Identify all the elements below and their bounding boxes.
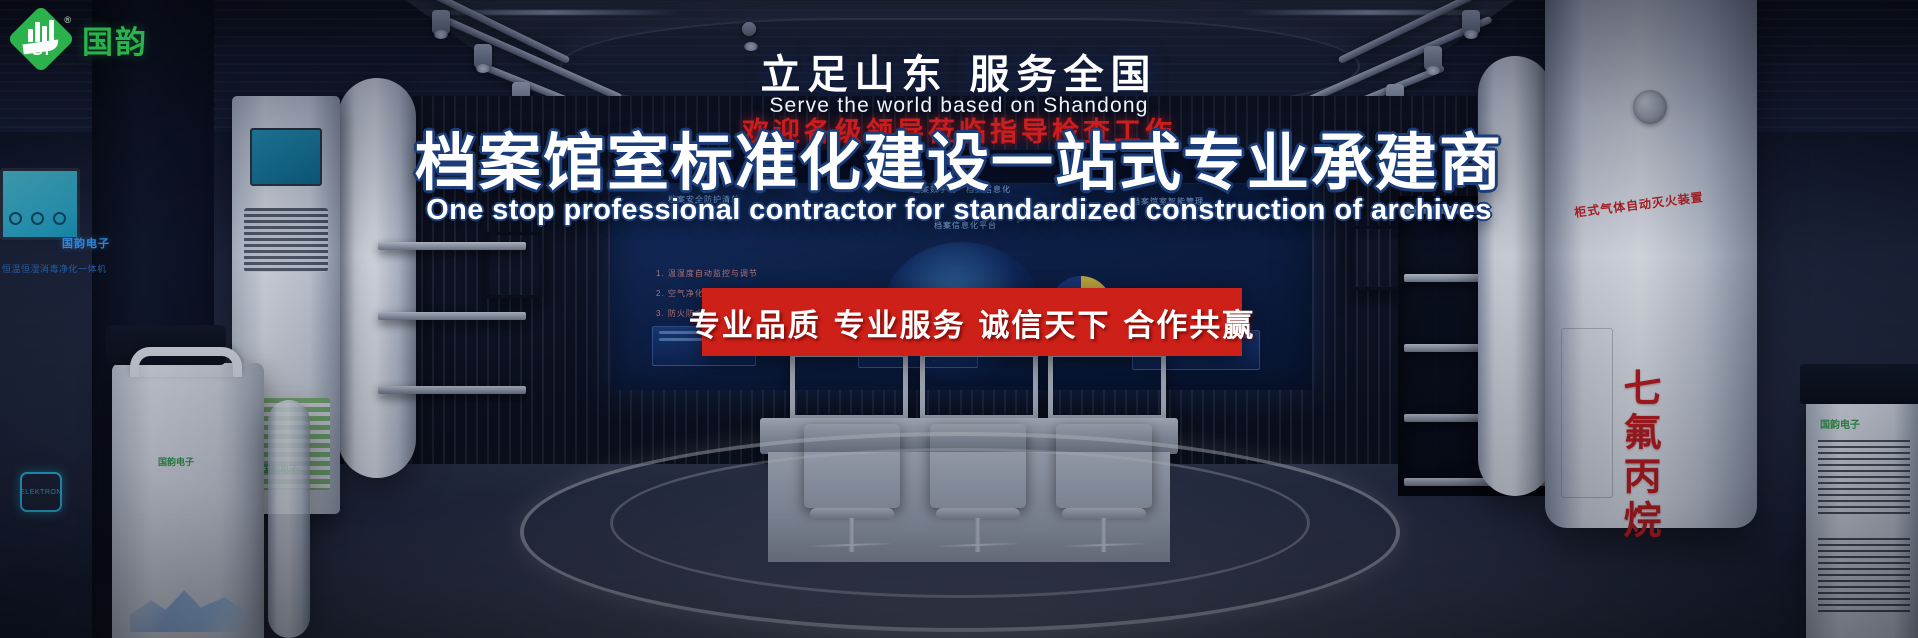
hero-kicker-en: Serve the world based on Shandong <box>0 94 1918 118</box>
hero-kicker-cn: 立足山东 服务全国 <box>0 42 1918 100</box>
registered-mark-icon: ® <box>64 15 71 25</box>
building-icon <box>28 20 54 42</box>
hero-slogan-ribbon: 专业品质 专业服务 诚信天下 合作共赢 <box>702 288 1242 356</box>
hero-text-overlay: GY ® 国韵 欢迎各级领导莅临指导检查工作 立足山东 服务全国 Serve t… <box>0 0 1918 638</box>
hero-banner: 档案安全防护清单 档案数字化 档案信息化 档案信息化平台 档案馆室智能管理 1.… <box>0 0 1918 638</box>
hero-subline-en: One stop professional contractor for sta… <box>0 194 1918 227</box>
hero-headline: 档案馆室标准化建设一站式专业承建商 <box>0 128 1918 197</box>
hero-slogan-text: 专业品质 专业服务 诚信天下 合作共赢 <box>689 300 1255 345</box>
